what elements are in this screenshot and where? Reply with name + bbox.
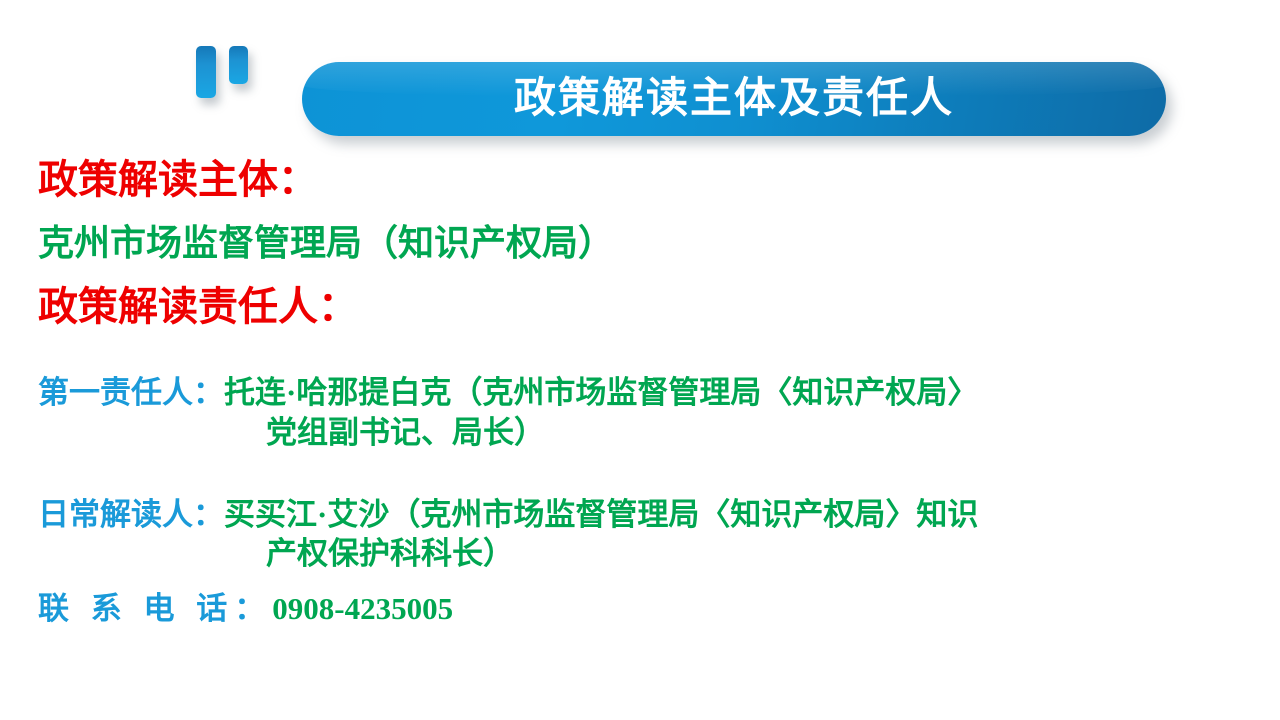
contact-phone-block: 联 系 电 话：0908-4235005	[0, 583, 1280, 628]
slide-header: 政策解读主体及责任人	[0, 0, 1280, 160]
first-responsible-block: 第一责任人：托连·哈那提白克（克州市场监督管理局〈知识产权局〉 党组副书记、局长…	[0, 374, 1280, 452]
daily-interpreter-value-line2: 产权保护科科长）	[38, 535, 1280, 573]
quote-bar-short	[229, 46, 248, 84]
subject-organization: 克州市场监督管理局（知识产权局）	[0, 223, 1280, 263]
contact-phone-label: 联 系 电 话：	[38, 591, 272, 626]
daily-interpreter-block: 日常解读人：买买江·艾沙（克州市场监督管理局〈知识产权局〉知识 产权保护科科长）	[0, 496, 1280, 574]
contact-phone-value: 0908-4235005	[272, 591, 453, 626]
first-responsible-value-line2: 党组副书记、局长）	[38, 414, 1280, 452]
slide-body: 政策解读主体： 克州市场监督管理局（知识产权局） 政策解读责任人： 第一责任人：…	[0, 158, 1280, 628]
daily-interpreter-label: 日常解读人：	[38, 497, 224, 532]
title-banner: 政策解读主体及责任人	[302, 62, 1166, 136]
page-title: 政策解读主体及责任人	[514, 78, 954, 120]
first-responsible-label: 第一责任人：	[38, 375, 224, 410]
slide-canvas: 政策解读主体及责任人 政策解读主体： 克州市场监督管理局（知识产权局） 政策解读…	[0, 0, 1280, 720]
responsible-heading: 政策解读责任人：	[0, 285, 1280, 330]
quote-bar-tall	[196, 46, 216, 98]
subject-heading: 政策解读主体：	[0, 158, 1280, 203]
first-responsible-value-line1: 托连·哈那提白克（克州市场监督管理局〈知识产权局〉	[224, 375, 978, 410]
daily-interpreter-value-line1: 买买江·艾沙（克州市场监督管理局〈知识产权局〉知识	[224, 497, 978, 532]
quote-mark-icon	[196, 46, 268, 118]
